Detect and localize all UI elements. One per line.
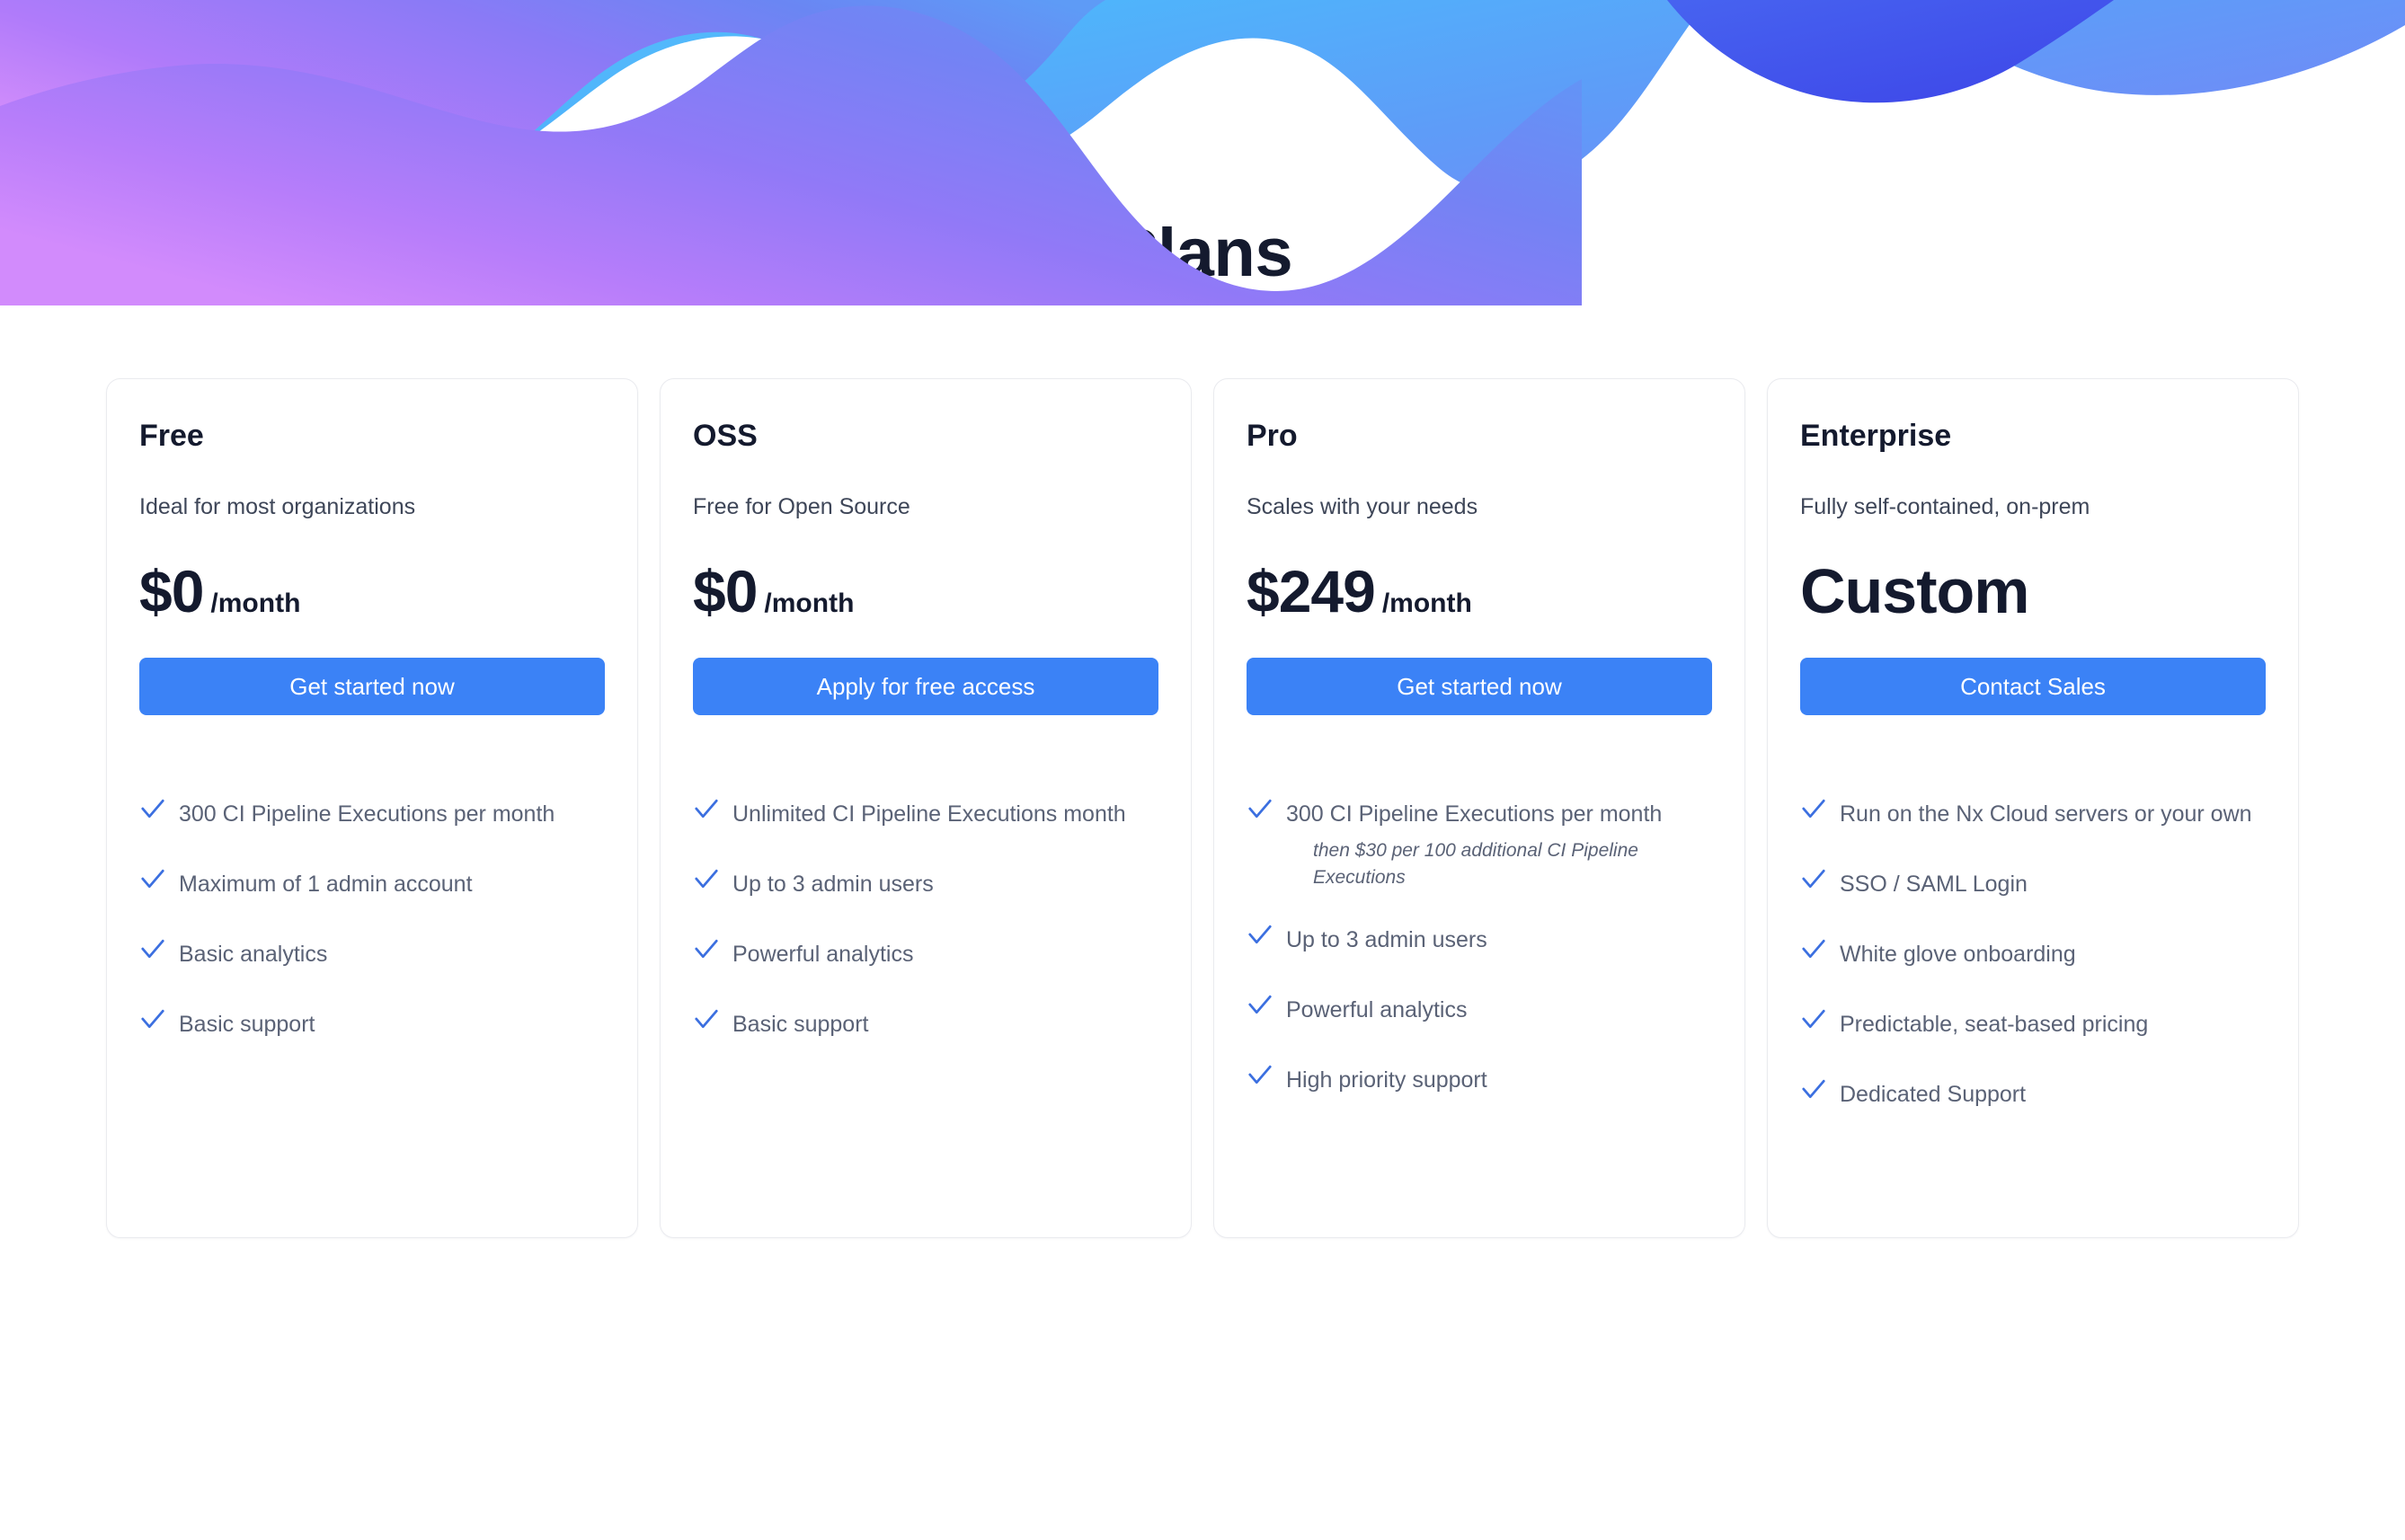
check-icon — [693, 792, 720, 825]
check-icon — [1247, 918, 1273, 951]
feature-text: Up to 3 admin users — [1286, 927, 1487, 952]
feature-text: Basic support — [179, 1012, 315, 1037]
wave-layer-cyan — [0, 0, 2405, 192]
feature-note: then $30 per 100 additional CI Pipeline … — [1313, 837, 1712, 891]
price-amount: $0 — [139, 557, 203, 625]
feature-list: Run on the Nx Cloud servers or your own … — [1800, 792, 2266, 1116]
check-icon — [693, 863, 720, 895]
feature-text: SSO / SAML Login — [1840, 872, 2028, 897]
pricing-page: Plans Free Ideal for most organizations … — [0, 0, 2405, 1540]
price-amount: $0 — [693, 557, 757, 625]
feature-list: 300 CI Pipeline Executions per month the… — [1247, 792, 1712, 1102]
plan-card-oss: OSS Free for Open Source $0 /month Apply… — [660, 378, 1192, 1238]
feature-body: White glove onboarding — [1840, 933, 2266, 976]
feature-text: Unlimited CI Pipeline Executions month — [732, 801, 1126, 827]
feature-item: Run on the Nx Cloud servers or your own — [1800, 792, 2266, 836]
check-icon — [139, 933, 166, 965]
feature-body: Basic support — [732, 1003, 1158, 1046]
price-period: /month — [210, 586, 300, 622]
feature-body: Basic support — [179, 1003, 605, 1046]
feature-item: Basic support — [693, 1003, 1158, 1046]
feature-text: Powerful analytics — [1286, 997, 1467, 1022]
check-icon — [693, 933, 720, 965]
check-icon — [1800, 1073, 1827, 1105]
feature-item: Predictable, seat-based pricing — [1800, 1003, 2266, 1046]
plan-price: $249 /month — [1247, 557, 1712, 625]
check-icon — [1247, 792, 1273, 825]
feature-item: 300 CI Pipeline Executions per month the… — [1247, 792, 1712, 891]
check-icon — [693, 1003, 720, 1035]
check-icon — [1247, 1058, 1273, 1091]
cta-get-started-pro[interactable]: Get started now — [1247, 658, 1712, 715]
plan-card-pro: Pro Scales with your needs $249 /month G… — [1213, 378, 1745, 1238]
feature-body: Unlimited CI Pipeline Executions month — [732, 792, 1158, 836]
feature-text: 300 CI Pipeline Executions per month — [179, 801, 555, 827]
price-period: /month — [764, 586, 854, 622]
feature-body: SSO / SAML Login — [1840, 863, 2266, 906]
feature-item: Up to 3 admin users — [1247, 918, 1712, 961]
wave-layer-purple — [0, 0, 1105, 188]
feature-list: 300 CI Pipeline Executions per month Max… — [139, 792, 605, 1046]
check-icon — [1800, 933, 1827, 965]
feature-body: Powerful analytics — [732, 933, 1158, 976]
feature-text: Dedicated Support — [1840, 1082, 2026, 1107]
feature-body: Dedicated Support — [1840, 1073, 2266, 1116]
plan-tagline: Free for Open Source — [693, 492, 1158, 521]
check-icon — [1800, 863, 1827, 895]
feature-text: Predictable, seat-based pricing — [1840, 1012, 2148, 1037]
plan-name: Free — [139, 417, 605, 455]
feature-text: Basic analytics — [179, 942, 327, 967]
feature-body: Up to 3 admin users — [1286, 918, 1712, 961]
cta-contact-sales[interactable]: Contact Sales — [1800, 658, 2266, 715]
feature-item: Basic support — [139, 1003, 605, 1046]
price-period: /month — [1382, 586, 1472, 622]
feature-body: Run on the Nx Cloud servers or your own — [1840, 792, 2266, 836]
feature-text: 300 CI Pipeline Executions per month — [1286, 801, 1662, 827]
feature-item: Maximum of 1 admin account — [139, 863, 605, 906]
feature-item: White glove onboarding — [1800, 933, 2266, 976]
check-icon — [139, 1003, 166, 1035]
feature-item: Dedicated Support — [1800, 1073, 2266, 1116]
plan-price: Custom — [1800, 557, 2266, 625]
plan-price: $0 /month — [139, 557, 605, 625]
feature-body: Basic analytics — [179, 933, 605, 976]
check-icon — [1247, 988, 1273, 1021]
plans-grid: Free Ideal for most organizations $0 /mo… — [106, 378, 2299, 1238]
check-icon — [139, 863, 166, 895]
check-icon — [139, 792, 166, 825]
feature-item: 300 CI Pipeline Executions per month — [139, 792, 605, 836]
price-amount: $249 — [1247, 557, 1375, 625]
plan-name: OSS — [693, 417, 1158, 455]
feature-body: High priority support — [1286, 1058, 1712, 1102]
feature-text: Run on the Nx Cloud servers or your own — [1840, 801, 2252, 827]
plan-card-free: Free Ideal for most organizations $0 /mo… — [106, 378, 638, 1238]
plan-name: Pro — [1247, 417, 1712, 455]
feature-text: Powerful analytics — [732, 942, 913, 967]
price-amount: Custom — [1800, 557, 2029, 625]
feature-item: Basic analytics — [139, 933, 605, 976]
plan-tagline: Scales with your needs — [1247, 492, 1712, 521]
page-title: Plans — [0, 212, 2405, 295]
feature-text: High priority support — [1286, 1067, 1487, 1093]
feature-body: 300 CI Pipeline Executions per month the… — [1286, 792, 1712, 891]
feature-item: SSO / SAML Login — [1800, 863, 2266, 906]
feature-item: Powerful analytics — [693, 933, 1158, 976]
wave-layer-indigo — [1667, 0, 2114, 102]
feature-text: Basic support — [732, 1012, 868, 1037]
feature-text: Maximum of 1 admin account — [179, 872, 473, 897]
plan-tagline: Fully self-contained, on-prem — [1800, 492, 2266, 521]
check-icon — [1800, 792, 1827, 825]
feature-item: Unlimited CI Pipeline Executions month — [693, 792, 1158, 836]
check-icon — [1800, 1003, 1827, 1035]
cta-apply-free-access[interactable]: Apply for free access — [693, 658, 1158, 715]
feature-body: Up to 3 admin users — [732, 863, 1158, 906]
feature-body: 300 CI Pipeline Executions per month — [179, 792, 605, 836]
plan-tagline: Ideal for most organizations — [139, 492, 605, 521]
cta-get-started-free[interactable]: Get started now — [139, 658, 605, 715]
plan-price: $0 /month — [693, 557, 1158, 625]
feature-body: Powerful analytics — [1286, 988, 1712, 1031]
feature-text: Up to 3 admin users — [732, 872, 934, 897]
feature-body: Predictable, seat-based pricing — [1840, 1003, 2266, 1046]
plan-name: Enterprise — [1800, 417, 2266, 455]
feature-item: Powerful analytics — [1247, 988, 1712, 1031]
feature-item: High priority support — [1247, 1058, 1712, 1102]
feature-body: Maximum of 1 admin account — [179, 863, 605, 906]
feature-list: Unlimited CI Pipeline Executions month U… — [693, 792, 1158, 1046]
feature-item: Up to 3 admin users — [693, 863, 1158, 906]
feature-text: White glove onboarding — [1840, 942, 2076, 967]
plan-card-enterprise: Enterprise Fully self-contained, on-prem… — [1767, 378, 2299, 1238]
